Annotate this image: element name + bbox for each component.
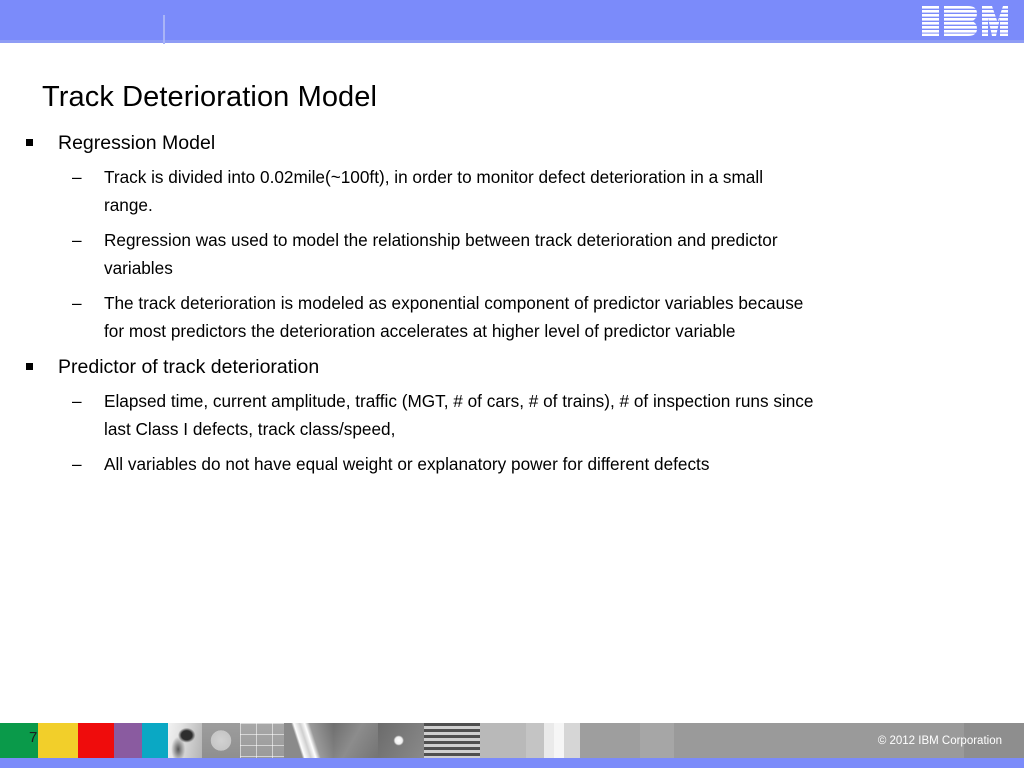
bullet-level1: Predictor of track deterioration (0, 355, 1024, 380)
bullet-level1-label: Predictor of track deterioration (58, 355, 1024, 380)
dash-bullet-icon: – (72, 451, 82, 479)
footer-tile-checker (526, 723, 580, 758)
page-title: Track Deterioration Model (42, 80, 377, 114)
block-spacer (0, 345, 1024, 355)
footer-tile-grid-diagram (240, 723, 284, 758)
footer-swatch-purple (114, 723, 142, 758)
slide-body: Regression Model – Track is divided into… (0, 131, 1024, 479)
footer-tile-hands-photo (284, 723, 334, 758)
footer-swatch-cyan (142, 723, 168, 758)
footer-tile-gray-b (640, 723, 674, 758)
footer-tile-stripes-pattern (424, 723, 480, 758)
footer-swatch-red (78, 723, 114, 758)
bullet-level1: Regression Model (0, 131, 1024, 156)
footer-color-strip (0, 723, 1024, 758)
square-bullet-icon (26, 363, 33, 370)
footer-tile-gray-a (580, 723, 640, 758)
bullet-level2: – Regression was used to model the relat… (0, 227, 816, 282)
top-banner (0, 0, 1024, 40)
bullet-level2: – All variables do not have equal weight… (0, 451, 816, 479)
footer-tile-lightgray (480, 723, 526, 758)
bullet-level2-label: Elapsed time, current amplitude, traffic… (104, 388, 816, 443)
bullet-level2-label: Regression was used to model the relatio… (104, 227, 816, 282)
footer-bottom-band (0, 758, 1024, 768)
bullet-level2: – The track deterioration is modeled as … (0, 290, 816, 345)
bullet-level2-label: Track is divided into 0.02mile(~100ft), … (104, 164, 816, 219)
footer-bar (0, 723, 1024, 758)
dash-bullet-icon: – (72, 227, 82, 255)
top-banner-edge (0, 40, 1024, 43)
banner-divider (163, 15, 165, 44)
footer-tile-dark-photo (334, 723, 378, 758)
page-number: 7 (29, 729, 37, 747)
bullet-level1-label: Regression Model (58, 131, 1024, 156)
footer-tile-starburst-photo (378, 723, 424, 758)
bullet-level2-label: All variables do not have equal weight o… (104, 451, 816, 479)
footer-tile-person-photo (168, 723, 202, 758)
bullet-level2: – Track is divided into 0.02mile(~100ft)… (0, 164, 816, 219)
footer-swatch-yellow (38, 723, 78, 758)
ibm-logo-icon (922, 6, 1008, 36)
bullet-level2: – Elapsed time, current amplitude, traff… (0, 388, 816, 443)
footer-tile-sphere-photo (202, 723, 240, 758)
copyright-notice: © 2012 IBM Corporation (878, 734, 1002, 748)
dash-bullet-icon: – (72, 290, 82, 318)
square-bullet-icon (26, 139, 33, 146)
dash-bullet-icon: – (72, 388, 82, 416)
bullet-level2-label: The track deterioration is modeled as ex… (104, 290, 816, 345)
dash-bullet-icon: – (72, 164, 82, 192)
